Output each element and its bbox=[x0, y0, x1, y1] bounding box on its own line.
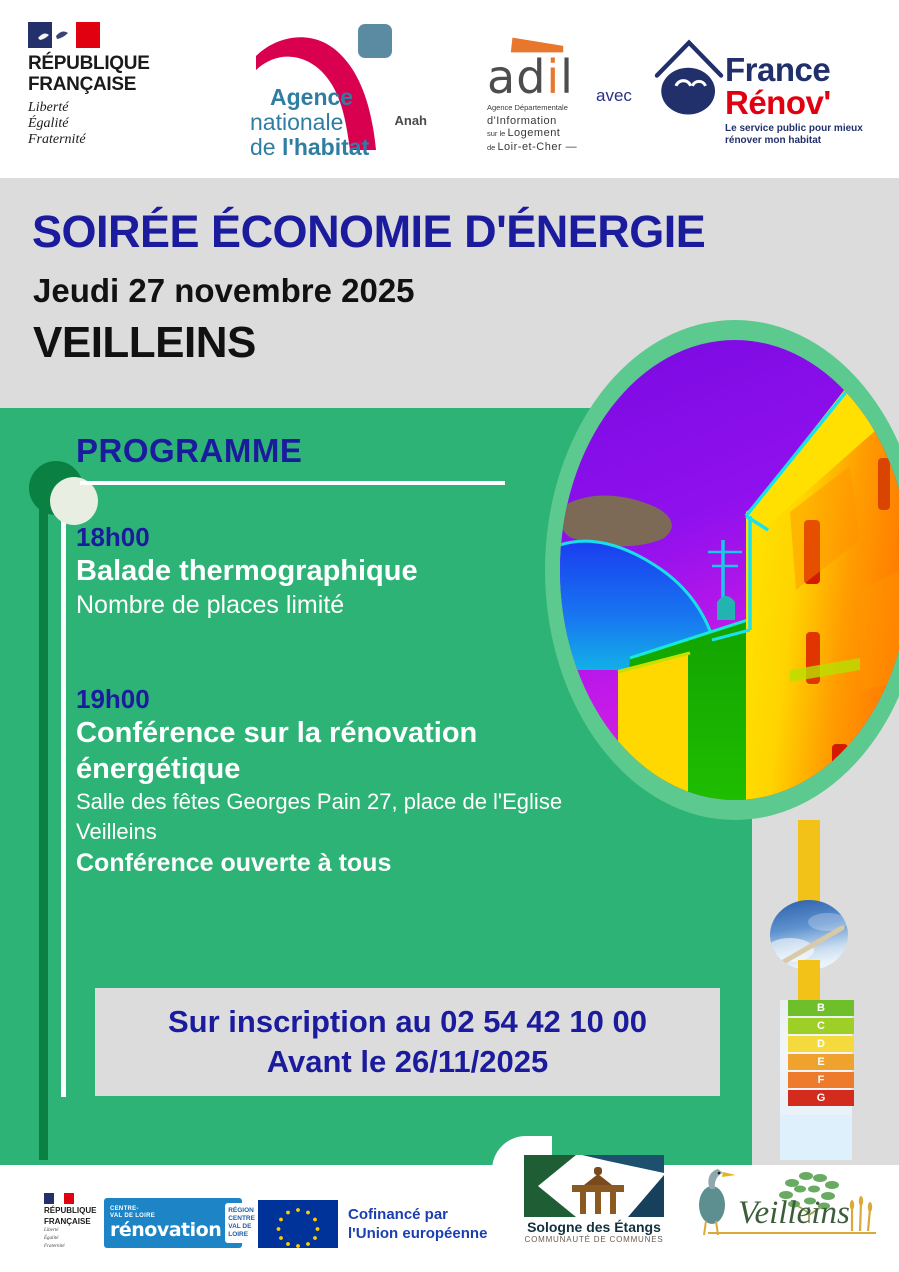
programme-item-1-note: Nombre de places limité bbox=[76, 589, 418, 621]
programme-heading: PROGRAMME bbox=[76, 432, 302, 470]
programme-item-2-heading-line1: Conférence sur la rénovation bbox=[76, 715, 716, 751]
footer-sologne-name: Sologne des Étangs bbox=[524, 1219, 664, 1235]
footer-sologne-logo: Sologne des Étangs COMMUNAUTÉ DE COMMUNE… bbox=[524, 1155, 664, 1245]
footer-eu-line2: l'Union européenne bbox=[348, 1224, 487, 1243]
adil-subtitle: Agence Départementale d'Information sur … bbox=[487, 102, 607, 154]
adil-logo: adil Agence Départementale d'Information… bbox=[487, 36, 607, 154]
header-logo-bar: RÉPUBLIQUE FRANÇAISE Liberté Égalité Fra… bbox=[0, 0, 899, 178]
programme-item-2-address-line1: Salle des fêtes Georges Pain 27, place d… bbox=[76, 787, 716, 817]
footer-rf-motto3: Fraternité bbox=[44, 1244, 104, 1250]
anah-line-habitat: de l'habitat bbox=[250, 135, 430, 160]
footer-rf-motto2: Égalité bbox=[44, 1236, 104, 1242]
veilleins-heron-tree-icon: Veilleins bbox=[680, 1163, 880, 1243]
france-renov-logo: France Rénov' Le service public pour mie… bbox=[650, 30, 870, 148]
adil-sub-line3: sur le Logement bbox=[487, 127, 607, 141]
adil-sub-line4: de Loir-et-Cher — bbox=[487, 141, 607, 155]
dpe-photo-bottom bbox=[780, 1115, 852, 1160]
footer-republique-francaise-logo: RÉPUBLIQUE FRANÇAISE Liberté Égalité Fra… bbox=[44, 1193, 104, 1250]
adil-sub-line2: d'Information bbox=[487, 115, 607, 128]
veilleins-wordmark: Veilleins bbox=[738, 1195, 850, 1231]
footer-eu-funding-text: Cofinancé par l'Union européenne bbox=[348, 1205, 487, 1243]
event-city: VEILLEINS bbox=[33, 318, 256, 368]
france-renov-tagline-line2: rénover mon habitat bbox=[725, 135, 863, 147]
programme-item-1: 18h00 Balade thermographique Nombre de p… bbox=[76, 521, 418, 621]
footer-region-line3: VAL DE LOIRE bbox=[228, 1223, 255, 1239]
programme-item-2-open-note: Conférence ouverte à tous bbox=[76, 847, 716, 879]
france-renov-house-icon bbox=[650, 34, 728, 124]
footer-sologne-subtitle: COMMUNAUTÉ DE COMMUNES bbox=[524, 1235, 664, 1245]
french-flag-icon bbox=[28, 22, 100, 48]
programme-item-2-time: 19h00 bbox=[76, 683, 716, 715]
timeline-white-line bbox=[61, 487, 66, 1097]
republique-francaise-logo: RÉPUBLIQUE FRANÇAISE Liberté Égalité Fra… bbox=[28, 22, 188, 148]
rf-title-line2: FRANÇAISE bbox=[28, 74, 188, 95]
adil-sub-line1: Agence Départementale bbox=[487, 102, 607, 115]
dpe-row-d: D bbox=[788, 1036, 854, 1052]
footer-rf-motto1: Liberté bbox=[44, 1228, 104, 1234]
anah-line-agence: Agence bbox=[250, 85, 430, 110]
registration-phone-line: Sur inscription au 02 54 42 10 00 bbox=[168, 1002, 647, 1042]
rf-motto-liberte: Liberté bbox=[28, 100, 188, 116]
event-date: Jeudi 27 novembre 2025 bbox=[33, 272, 415, 310]
timeline-dark-line bbox=[39, 470, 48, 1160]
footer-eu-flag bbox=[258, 1200, 338, 1248]
footer-renovation-wordmark: CENTRE- VAL DE LOIRE rénovation bbox=[104, 1206, 221, 1240]
footer-rf-line1: RÉPUBLIQUE bbox=[44, 1206, 104, 1215]
footer-region-centre-box: RÉGION CENTRE VAL DE LOIRE bbox=[225, 1203, 258, 1243]
adil-wordmark: adil bbox=[487, 54, 607, 100]
poster-root: RÉPUBLIQUE FRANÇAISE Liberté Égalité Fra… bbox=[0, 0, 899, 1272]
programme-item-2: 19h00 Conférence sur la rénovation énerg… bbox=[76, 683, 716, 879]
anah-logo: Agence nationale de l'habitat Anah bbox=[250, 22, 430, 162]
page-title: SOIRÉE ÉCONOMIE D'ÉNERGIE bbox=[32, 206, 705, 258]
dpe-row-f: F bbox=[788, 1072, 854, 1088]
rf-motto-fraternite: Fraternité bbox=[28, 132, 188, 148]
programme-item-2-address-line2: Veilleins bbox=[76, 817, 716, 847]
programme-item-1-heading: Balade thermographique bbox=[76, 553, 418, 589]
rf-motto-egalite: Égalité bbox=[28, 116, 188, 132]
footer-renovation-logo: CENTRE- VAL DE LOIRE rénovation RÉGION C… bbox=[104, 1198, 242, 1248]
sologne-emblem-icon bbox=[524, 1155, 664, 1217]
anah-short-name: Anah bbox=[395, 113, 428, 128]
programme-divider bbox=[80, 481, 505, 485]
footer-rf-line2: FRANÇAISE bbox=[44, 1217, 104, 1226]
rf-title-line1: RÉPUBLIQUE bbox=[28, 53, 188, 74]
footer-renovation-top1: CENTRE- bbox=[110, 1206, 221, 1213]
programme-item-2-heading-line2: énergétique bbox=[76, 751, 716, 787]
footer-region-line1: RÉGION bbox=[228, 1207, 255, 1215]
eu-flag-icon bbox=[258, 1200, 338, 1248]
dpe-row-g: G bbox=[788, 1090, 854, 1106]
france-renov-wordmark: France Rénov' Le service public pour mie… bbox=[725, 54, 863, 147]
footer-eu-line1: Cofinancé par bbox=[348, 1205, 487, 1224]
footer-region-line2: CENTRE bbox=[228, 1215, 255, 1223]
france-renov-line2: Rénov' bbox=[725, 86, 863, 119]
avec-label: avec bbox=[596, 86, 632, 106]
registration-deadline-line: Avant le 26/11/2025 bbox=[267, 1042, 549, 1082]
programme-item-1-time: 18h00 bbox=[76, 521, 418, 553]
france-renov-tagline-line1: Le service public pour mieux bbox=[725, 123, 863, 135]
dpe-row-e: E bbox=[788, 1054, 854, 1070]
dpe-energy-label: BCDEFG bbox=[788, 1000, 854, 1108]
footer-french-flag-icon bbox=[44, 1193, 74, 1204]
france-renov-line1: France bbox=[725, 54, 863, 86]
dpe-row-b: B bbox=[788, 1000, 854, 1016]
footer-renovation-word: rénovation bbox=[110, 1220, 221, 1240]
footer-veilleins-logo: Veilleins bbox=[680, 1163, 880, 1243]
registration-box: Sur inscription au 02 54 42 10 00 Avant … bbox=[95, 988, 720, 1096]
dpe-row-c: C bbox=[788, 1018, 854, 1034]
